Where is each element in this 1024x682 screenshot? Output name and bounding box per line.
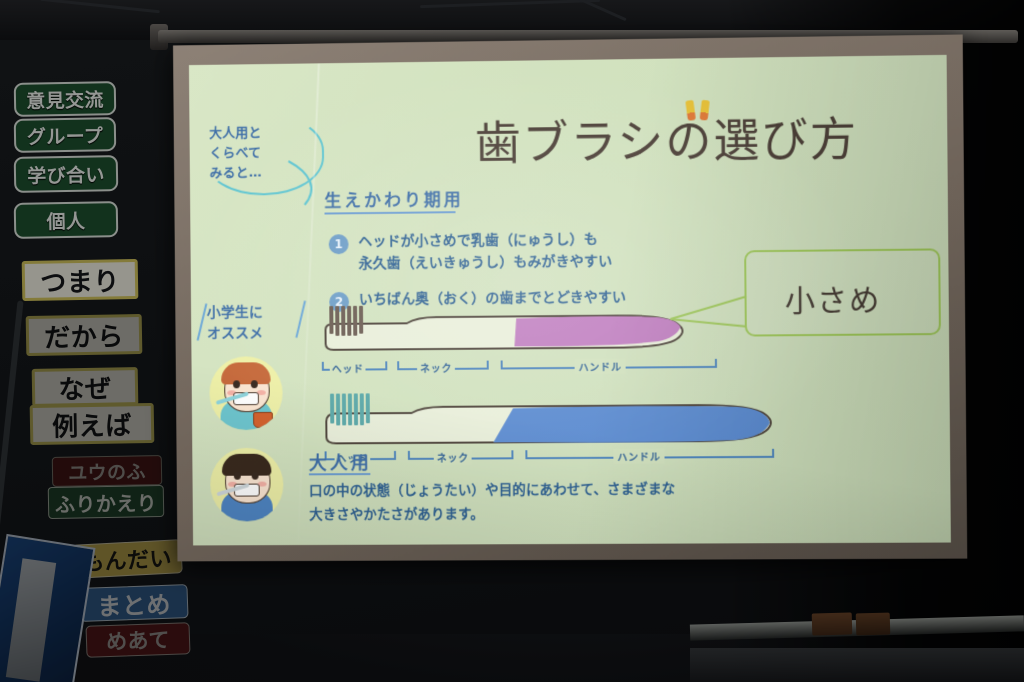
avatar-hair — [221, 362, 271, 384]
slash-left-icon — [197, 303, 208, 340]
adult-measure-bar: ヘッド ネック ハンドル — [319, 449, 789, 467]
tick — [715, 359, 717, 368]
page-title: 歯ブラシの選び方 — [475, 102, 859, 173]
avatar-hair — [222, 454, 272, 476]
card-label: 学び合い — [27, 160, 105, 188]
card-tsumari: つまり — [22, 259, 139, 301]
card-furikaeri: ふりかえり — [48, 485, 165, 519]
avatar-cup-icon — [253, 412, 273, 428]
screen-surface: 歯ブラシの選び方 大人用と くらべて みると… 小学生に オススメ — [189, 55, 951, 546]
item-number: 1 — [329, 234, 349, 254]
measure-label-head: ヘッド — [330, 361, 366, 376]
card-dakara: だから — [26, 314, 143, 356]
tick — [394, 451, 396, 460]
measure-label-neck: ネック — [434, 450, 472, 465]
chalk-ledge-lower — [690, 648, 1024, 682]
kids-bristles — [329, 306, 363, 336]
screenshot-root: 意見交流 グループ 学び合い 個人 つまり だから なぜ 例えば ユウのふ ふり… — [0, 0, 1024, 682]
adult-bristles — [330, 393, 370, 425]
toothbrush-icon — [682, 100, 714, 122]
kids-measure-bar: ヘッド ネック ハンドル — [318, 359, 737, 377]
card-matome: まとめ — [79, 584, 188, 622]
adult-toothbrush — [318, 385, 778, 458]
recommend-label: 小学生に オススメ — [207, 303, 264, 345]
card-label: グループ — [27, 121, 104, 149]
avatar-eye-right — [252, 472, 259, 480]
avatar — [209, 356, 283, 430]
card-label: まとめ — [97, 584, 172, 622]
tick — [487, 361, 489, 370]
item-text: ヘッドが小さめで乳歯（にゅうし）も 永久歯（えいきゅうし）もみがきやすい — [358, 230, 612, 276]
card-label: つまり — [40, 261, 120, 299]
card-naze: なぜ — [32, 367, 139, 407]
avatar-eye-left — [234, 472, 241, 480]
avatar-eye-right — [251, 380, 258, 388]
tick — [385, 361, 387, 370]
section-heading-kids: 生えかわり期用 — [324, 185, 464, 211]
eraser-block-1 — [812, 612, 853, 635]
tick — [511, 450, 513, 459]
eraser-block-2 — [856, 613, 891, 636]
card-tatoeba: 例えば — [30, 403, 155, 445]
callout-tail-icon — [668, 290, 749, 331]
kids-toothbrush — [317, 297, 717, 366]
projection-screen: 歯ブラシの選び方 大人用と くらべて みると… 小学生に オススメ — [173, 34, 967, 561]
list-item: 1 ヘッドが小さめで乳歯（にゅうし）も 永久歯（えいきゅうし）もみがきやすい — [329, 228, 749, 275]
section-rule-kids — [324, 211, 455, 214]
slash-right-icon — [295, 301, 306, 338]
card-label: 個人 — [46, 206, 85, 234]
card-label: だから — [44, 316, 124, 354]
card-label: 意見交流 — [26, 85, 104, 113]
callout-text: 小さめ — [785, 275, 882, 320]
avatar-eye-left — [233, 380, 240, 388]
bubble-text: 大人用と くらべて みると… — [209, 124, 262, 185]
avatar — [210, 448, 284, 522]
adult-description: 口の中の状態（じょうたい）や目的にあわせて、さまざまな 大きさやかたさがあります… — [309, 477, 676, 527]
card-manabiai: 学び合い — [14, 155, 119, 193]
card-kojin: 個人 — [14, 201, 119, 239]
section-rule-adult — [309, 473, 370, 475]
adult-toothbrush-shape — [318, 385, 778, 454]
card-label: 例えば — [52, 405, 132, 443]
card-ikenkoryu: 意見交流 — [14, 81, 117, 117]
measure-label-neck: ネック — [417, 360, 455, 375]
card-meate: めあて — [85, 622, 190, 658]
card-label: なぜ — [58, 368, 112, 406]
kids-toothbrush-shape — [317, 297, 717, 362]
card-group: グループ — [14, 117, 117, 153]
card-label: めあて — [106, 624, 171, 656]
section-heading-adult: 大人用 — [309, 449, 372, 475]
card-label: ユウのふ — [68, 457, 146, 485]
tick — [772, 449, 774, 458]
card-label: もんだい — [81, 541, 172, 578]
card-red-kanji: ユウのふ — [52, 455, 163, 487]
measure-label-handle: ハンドル — [575, 359, 626, 374]
slide: 歯ブラシの選び方 大人用と くらべて みると… 小学生に オススメ — [189, 55, 951, 546]
card-label: ふりかえり — [55, 487, 157, 518]
measure-label-handle: ハンドル — [613, 448, 664, 463]
